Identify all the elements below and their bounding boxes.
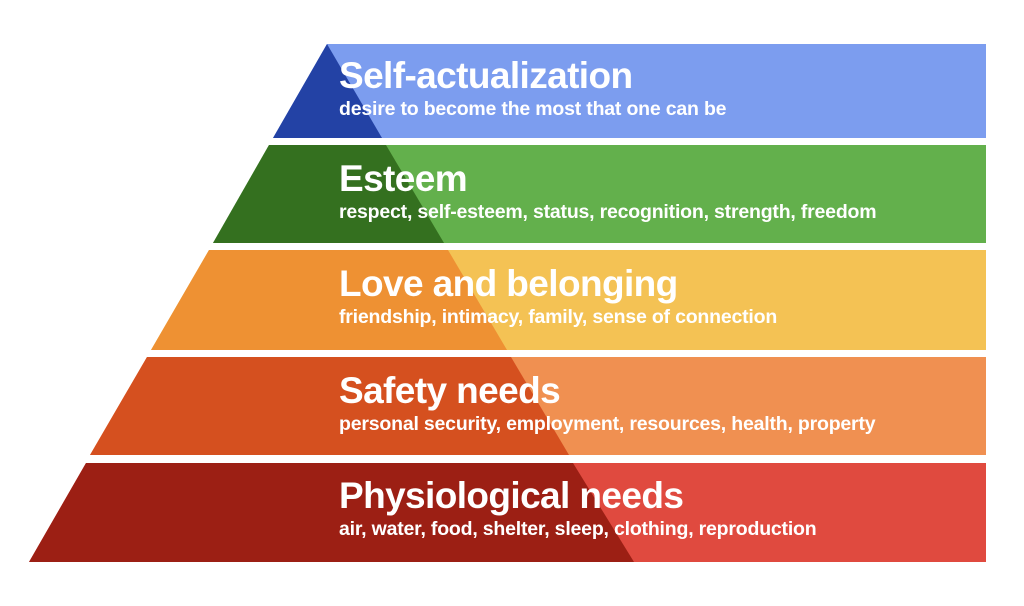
- tier-1-light-face: [273, 44, 986, 138]
- tier-5-shadow-face: [29, 463, 634, 562]
- maslow-pyramid-figure: Self-actualization desire to become the …: [0, 0, 1024, 606]
- pyramid-tier-safety-needs[interactable]: [90, 357, 986, 455]
- tier-3-shadow-face: [151, 250, 507, 350]
- pyramid-tier-love-and-belonging[interactable]: [151, 250, 986, 350]
- pyramid-shapes: [0, 0, 1024, 606]
- pyramid-tier-esteem[interactable]: [213, 145, 986, 243]
- tier-4-shadow-face: [90, 357, 569, 455]
- pyramid-tier-physiological-needs[interactable]: [29, 463, 986, 562]
- pyramid-tier-self-actualization[interactable]: [273, 44, 986, 138]
